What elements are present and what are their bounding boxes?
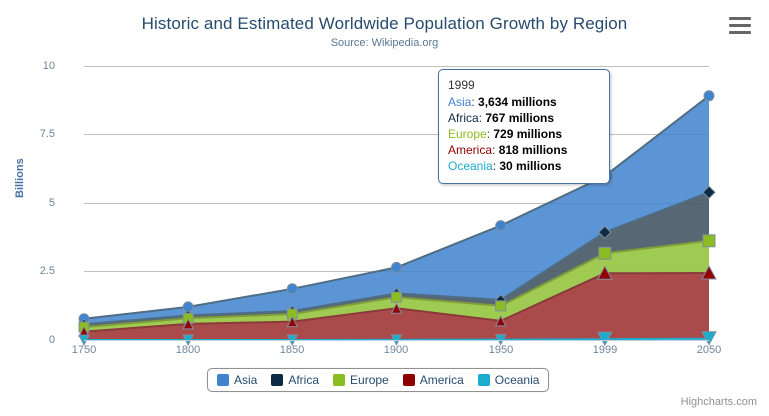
tooltip-value-asia: 3,634 millions	[478, 95, 557, 109]
tooltip-row-europe: Europe: 729 millions	[448, 126, 600, 142]
series-plot	[84, 66, 709, 340]
legend-item-america[interactable]: America	[403, 373, 464, 387]
x-tick-1750: 1750	[54, 344, 114, 356]
legend-item-africa[interactable]: Africa	[271, 373, 319, 387]
tooltip-sep-asia: :	[471, 95, 478, 109]
tooltip-value-europe: 729 millions	[493, 127, 562, 141]
y-tick-7.5: 7.5	[0, 128, 55, 140]
y-tick-5: 5	[0, 197, 55, 209]
x-tick-1999: 1999	[575, 344, 635, 356]
legend-label-oceania: Oceania	[495, 373, 540, 387]
y-tick-2.5: 2.5	[0, 265, 55, 277]
legend-swatch-africa	[271, 374, 283, 386]
legend-label-asia: Asia	[234, 373, 257, 387]
tooltip-row-asia: Asia: 3,634 millions	[448, 94, 600, 110]
y-axis-title: Billions	[14, 158, 26, 198]
legend-label-africa: Africa	[288, 373, 319, 387]
x-tick-1950: 1950	[471, 344, 531, 356]
tooltip-series-name-africa: Africa	[448, 111, 479, 125]
tooltip-row-oceania: Oceania: 30 millions	[448, 158, 600, 174]
tooltip-series-name-europe: Europe	[448, 127, 487, 141]
tooltip-header: 1999	[448, 77, 600, 93]
legend-swatch-america	[403, 374, 415, 386]
legend-item-oceania[interactable]: Oceania	[478, 373, 540, 387]
legend-item-europe[interactable]: Europe	[333, 373, 389, 387]
chart-subtitle: Source: Wikipedia.org	[0, 37, 769, 49]
tooltip-sep-america: :	[492, 143, 499, 157]
tooltip-value-africa: 767 millions	[485, 111, 554, 125]
legend-label-america: America	[420, 373, 464, 387]
legend-swatch-asia	[217, 374, 229, 386]
tooltip-series-name-oceania: Oceania	[448, 159, 493, 173]
legend-item-asia[interactable]: Asia	[217, 373, 257, 387]
chart-title: Historic and Estimated Worldwide Populat…	[0, 14, 769, 34]
y-tick-0: 0	[0, 334, 55, 346]
x-tick-1800: 1800	[158, 344, 218, 356]
credits-link[interactable]: Highcharts.com	[681, 396, 757, 408]
tooltip-series-name-america: America	[448, 143, 492, 157]
hamburger-menu-icon[interactable]	[729, 17, 751, 35]
tooltip: 1999 Asia: 3,634 millions Africa: 767 mi…	[438, 69, 610, 184]
y-tick-10: 10	[0, 60, 55, 72]
tooltip-row-africa: Africa: 767 millions	[448, 110, 600, 126]
legend-swatch-oceania	[478, 374, 490, 386]
x-tick-2050: 2050	[679, 344, 739, 356]
x-tick-1900: 1900	[366, 344, 426, 356]
menu-bar-1	[729, 17, 751, 20]
menu-bar-2	[729, 24, 751, 27]
x-tick-1850: 1850	[262, 344, 322, 356]
tooltip-value-oceania: 30 millions	[499, 159, 561, 173]
tooltip-series-name-asia: Asia	[448, 95, 471, 109]
tooltip-row-america: America: 818 millions	[448, 142, 600, 158]
menu-bar-3	[729, 31, 751, 34]
highcharts-container: Historic and Estimated Worldwide Populat…	[0, 0, 769, 416]
legend-label-europe: Europe	[350, 373, 389, 387]
tooltip-value-america: 818 millions	[499, 143, 568, 157]
legend-swatch-europe	[333, 374, 345, 386]
plot-area	[84, 66, 709, 340]
legend: Asia Africa Europe America Oceania	[207, 368, 549, 392]
x-axis-line	[84, 340, 709, 341]
